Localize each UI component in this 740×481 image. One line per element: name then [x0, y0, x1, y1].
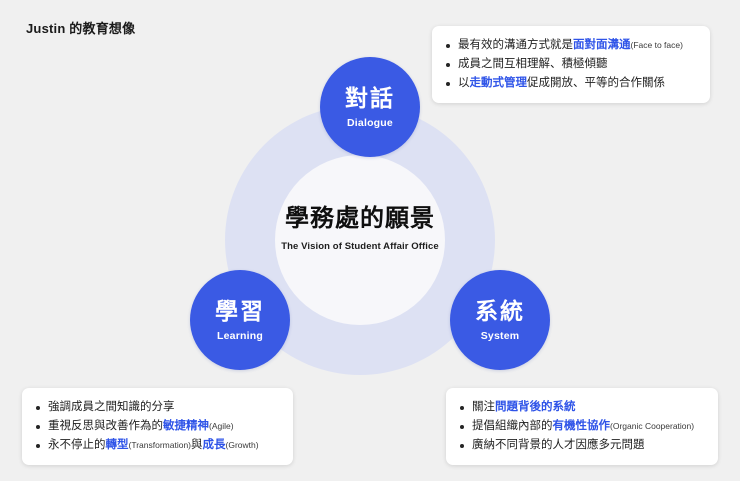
bullet-text-highlight: 面對面溝通: [573, 39, 631, 51]
callout-dialogue: 最有效的溝通方式就是面對面溝通(Face to face) 成員之間互相理解、積…: [432, 26, 710, 103]
bullet-text-note: (Agile): [209, 421, 234, 431]
bullet-text-highlight2: 成長: [203, 439, 226, 451]
page-title: Justin 的教育想像: [26, 18, 135, 37]
bullet-text-highlight: 走動式管理: [470, 77, 528, 89]
list-item: 永不停止的轉型(Transformation)與成長(Growth): [32, 436, 279, 455]
list-item: 重視反思與改善作為的敏捷精神(Agile): [32, 417, 279, 436]
bullet-text-pre: 成員之間互相理解、積極傾聽: [458, 58, 608, 70]
list-item: 關注問題背後的系統: [456, 398, 704, 417]
node-dialogue[interactable]: 對話 Dialogue: [320, 57, 420, 157]
callout-system: 關注問題背後的系統 提倡組織內部的有機性協作(Organic Cooperati…: [446, 388, 718, 465]
list-item: 提倡組織內部的有機性協作(Organic Cooperation): [456, 417, 704, 436]
bullet-text-highlight: 問題背後的系統: [495, 401, 576, 413]
bullet-text-pre: 重視反思與改善作為的: [48, 420, 163, 432]
callout-learning-list: 強調成員之間知識的分享 重視反思與改善作為的敏捷精神(Agile) 永不停止的轉…: [32, 398, 279, 455]
node-dialogue-label-en: Dialogue: [347, 117, 393, 129]
node-learning-label-en: Learning: [217, 330, 263, 342]
list-item: 以走動式管理促成開放、平等的合作關係: [442, 74, 696, 93]
node-dialogue-label-zh: 對話: [345, 85, 395, 111]
node-system-label-zh: 系統: [475, 298, 525, 324]
bullet-text-pre: 廣納不同背景的人才因應多元問題: [472, 439, 645, 451]
bullet-text-note: (Transformation): [129, 440, 192, 450]
node-system-label-en: System: [481, 330, 520, 342]
callout-system-list: 關注問題背後的系統 提倡組織內部的有機性協作(Organic Cooperati…: [456, 398, 704, 455]
bullet-text-pre: 關注: [472, 401, 495, 413]
vision-center: 學務處的願景 The Vision of Student Affair Offi…: [260, 205, 460, 252]
bullet-text-note2: (Growth): [226, 440, 259, 450]
bullet-text-highlight: 轉型: [106, 439, 129, 451]
bullet-text-post: 促成開放、平等的合作關係: [527, 77, 665, 89]
callout-learning: 強調成員之間知識的分享 重視反思與改善作為的敏捷精神(Agile) 永不停止的轉…: [22, 388, 293, 465]
bullet-text-note: (Organic Cooperation): [610, 421, 694, 431]
list-item: 廣納不同背景的人才因應多元問題: [456, 436, 704, 455]
bullet-text-pre: 以: [458, 77, 470, 89]
vision-title-en: The Vision of Student Affair Office: [260, 241, 460, 252]
list-item: 成員之間互相理解、積極傾聽: [442, 55, 696, 74]
list-item: 強調成員之間知識的分享: [32, 398, 279, 417]
list-item: 最有效的溝通方式就是面對面溝通(Face to face): [442, 36, 696, 55]
node-learning[interactable]: 學習 Learning: [190, 270, 290, 370]
callout-dialogue-list: 最有效的溝通方式就是面對面溝通(Face to face) 成員之間互相理解、積…: [442, 36, 696, 93]
bullet-text-pre: 永不停止的: [48, 439, 106, 451]
bullet-text-pre: 最有效的溝通方式就是: [458, 39, 573, 51]
vision-title-zh: 學務處的願景: [260, 205, 460, 234]
slide-canvas: Justin 的教育想像 學務處的願景 The Vision of Studen…: [0, 0, 740, 481]
bullet-text-pre: 提倡組織內部的: [472, 420, 553, 432]
bullet-text-pre2: 與: [191, 439, 203, 451]
bullet-text-highlight: 有機性協作: [553, 420, 611, 432]
bullet-text-highlight: 敏捷精神: [163, 420, 209, 432]
bullet-text-pre: 強調成員之間知識的分享: [48, 401, 175, 413]
node-learning-label-zh: 學習: [215, 298, 265, 324]
bullet-text-note: (Face to face): [631, 40, 683, 50]
node-system[interactable]: 系統 System: [450, 270, 550, 370]
